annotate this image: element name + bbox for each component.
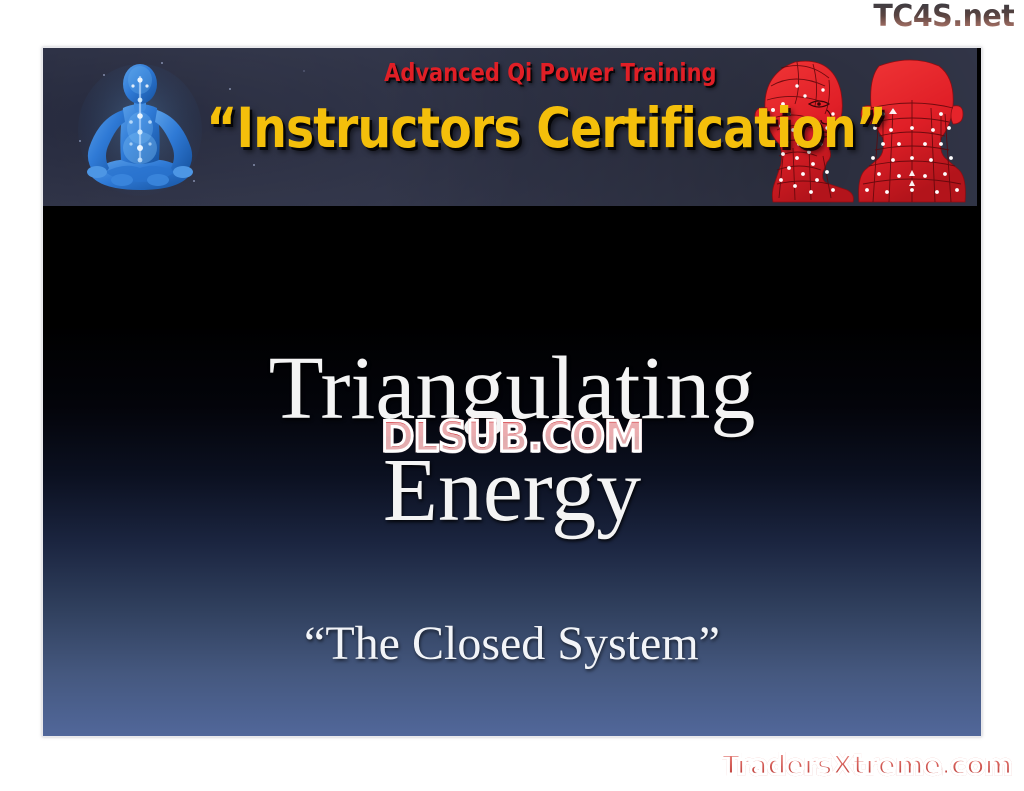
tradersxtreme-watermark-text: TradersXtreme.com: [722, 750, 1012, 781]
slide-subtitle: “The Closed System”: [83, 616, 941, 671]
banner-kicker-text: Advanced Qi Power Training: [118, 58, 903, 87]
tradersxtreme-watermark: TradersXtreme.com: [722, 752, 1012, 779]
dlsub-watermark-text: DLSUB.COM: [381, 412, 643, 461]
banner-title-text: “Instructors Certification”: [108, 96, 911, 160]
dlsub-watermark: DLSUB.COM: [381, 416, 643, 458]
tc4s-watermark: TC4S.net: [873, 2, 1014, 32]
slide-header-banner: Advanced Qi Power Training “Instructors …: [43, 48, 977, 206]
slide-page: TC4S.net: [0, 0, 1024, 791]
presentation-slide: Advanced Qi Power Training “Instructors …: [42, 47, 982, 737]
